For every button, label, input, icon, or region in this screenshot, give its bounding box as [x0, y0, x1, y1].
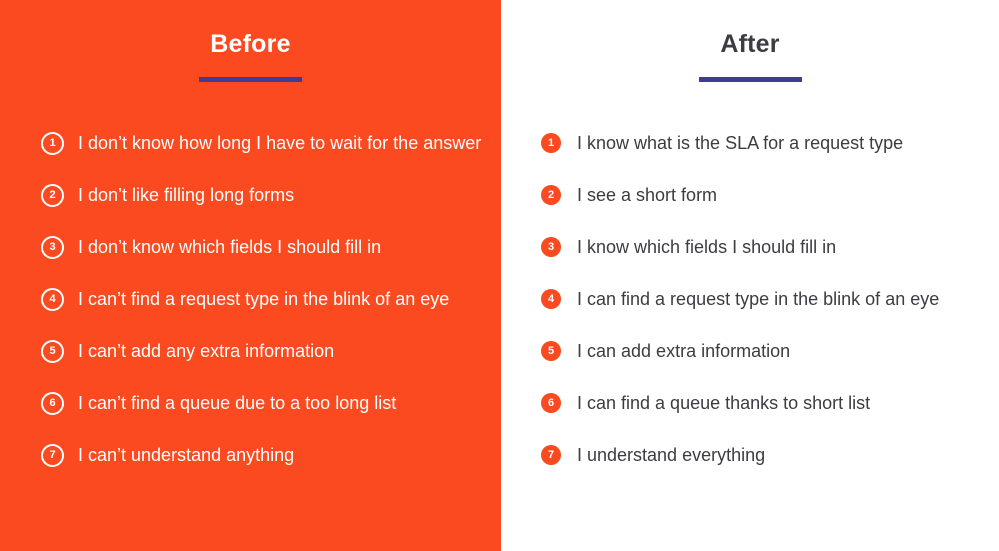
item-number-badge: 6 — [541, 393, 561, 413]
item-number-badge: 7 — [41, 444, 64, 467]
list-item: 5 I can’t add any extra information — [41, 336, 491, 366]
list-item-label: I can’t understand anything — [78, 444, 294, 466]
after-column: After 1 I know what is the SLA for a req… — [501, 0, 999, 551]
item-number-badge: 2 — [541, 185, 561, 205]
item-number-badge: 1 — [41, 132, 64, 155]
item-number-badge: 7 — [541, 445, 561, 465]
before-column: Before 1 I don’t know how long I have to… — [0, 0, 501, 551]
before-after-comparison-slide: Before 1 I don’t know how long I have to… — [0, 0, 999, 551]
list-item-label: I can find a queue thanks to short list — [577, 392, 870, 414]
after-column-title: After — [501, 29, 999, 59]
list-item: 6 I can find a queue thanks to short lis… — [541, 388, 989, 418]
list-item: 2 I see a short form — [541, 180, 989, 210]
list-item: 2 I don’t like filling long forms — [41, 180, 491, 210]
list-item: 3 I know which fields I should fill in — [541, 232, 989, 262]
after-column-header: After — [501, 29, 999, 82]
item-number-badge: 1 — [541, 133, 561, 153]
item-number-badge: 2 — [41, 184, 64, 207]
list-item-label: I can’t find a request type in the blink… — [78, 288, 449, 310]
list-item-label: I can find a request type in the blink o… — [577, 288, 939, 310]
after-title-underline — [699, 77, 802, 82]
before-pain-point-list: 1 I don’t know how long I have to wait f… — [41, 128, 491, 470]
before-title-underline — [199, 77, 302, 82]
list-item-label: I can add extra information — [577, 340, 790, 362]
list-item-label: I don’t know which fields I should fill … — [78, 236, 381, 258]
list-item-label: I know what is the SLA for a request typ… — [577, 132, 903, 154]
item-number-badge: 3 — [541, 237, 561, 257]
item-number-badge: 4 — [541, 289, 561, 309]
list-item-label: I can’t find a queue due to a too long l… — [78, 392, 396, 414]
list-item: 5 I can add extra information — [541, 336, 989, 366]
list-item-label: I see a short form — [577, 184, 717, 206]
list-item-label: I can’t add any extra information — [78, 340, 334, 362]
item-number-badge: 4 — [41, 288, 64, 311]
list-item: 7 I understand everything — [541, 440, 989, 470]
list-item: 3 I don’t know which fields I should fil… — [41, 232, 491, 262]
after-benefit-list: 1 I know what is the SLA for a request t… — [541, 128, 989, 470]
item-number-badge: 3 — [41, 236, 64, 259]
list-item-label: I don’t know how long I have to wait for… — [78, 132, 481, 154]
list-item: 4 I can’t find a request type in the bli… — [41, 284, 491, 314]
list-item: 4 I can find a request type in the blink… — [541, 284, 989, 314]
list-item: 1 I know what is the SLA for a request t… — [541, 128, 989, 158]
list-item-label: I don’t like filling long forms — [78, 184, 294, 206]
list-item-label: I know which fields I should fill in — [577, 236, 836, 258]
list-item: 1 I don’t know how long I have to wait f… — [41, 128, 491, 158]
before-column-header: Before — [0, 29, 501, 82]
item-number-badge: 6 — [41, 392, 64, 415]
list-item: 7 I can’t understand anything — [41, 440, 491, 470]
item-number-badge: 5 — [541, 341, 561, 361]
item-number-badge: 5 — [41, 340, 64, 363]
list-item: 6 I can’t find a queue due to a too long… — [41, 388, 491, 418]
before-column-title: Before — [0, 29, 501, 59]
list-item-label: I understand everything — [577, 444, 765, 466]
